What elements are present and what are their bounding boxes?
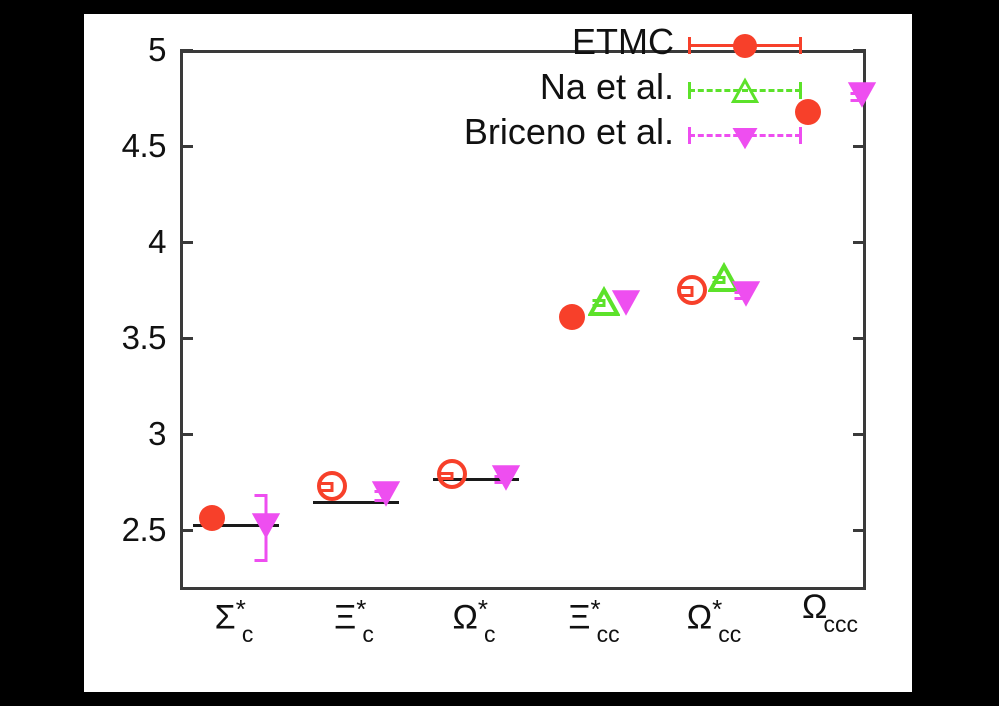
legend-entry-na: Na et al. <box>384 67 804 112</box>
legend-key-etmc <box>686 34 804 58</box>
y-tick-mark-right <box>853 241 866 244</box>
y-axis-tick-label: 5 <box>84 33 166 66</box>
data-point-filled-triangle-down <box>249 509 283 543</box>
x-axis-tick-label: Ξ*c <box>334 590 378 645</box>
chart-legend: ETMC Na et al. Briceno et al. <box>384 22 804 157</box>
y-tick-mark-right <box>853 529 866 532</box>
data-point-filled-circle <box>559 304 585 330</box>
y-tick-mark-right <box>853 49 866 52</box>
error-bar-cap <box>255 559 268 562</box>
y-tick-mark <box>180 49 193 52</box>
legend-label-briceno: Briceno et al. <box>464 112 674 152</box>
y-tick-mark-right <box>853 337 866 340</box>
legend-marker-filled-triangle-down <box>730 123 760 153</box>
data-point-filled-triangle-down <box>729 277 763 311</box>
y-axis-tick-label: 4 <box>84 225 166 258</box>
data-point-filled-triangle-down <box>369 477 403 511</box>
data-point-open-circle <box>317 471 347 501</box>
figure-canvas: 54.543.532.5Σ*cΞ*cΩ*cΞ*ccΩ*ccΩccc ETMC N… <box>84 14 912 692</box>
x-axis-tick-label: Ξ*cc <box>568 590 623 645</box>
error-bar-cap <box>255 494 268 497</box>
y-tick-mark <box>180 241 193 244</box>
y-tick-mark-right <box>853 145 866 148</box>
y-axis-tick-label: 3.5 <box>84 321 166 354</box>
y-tick-mark <box>180 433 193 436</box>
x-axis-tick-label: Ω*cc <box>687 590 746 645</box>
y-tick-mark <box>180 529 193 532</box>
y-axis-tick-label: 2.5 <box>84 513 166 546</box>
data-point-filled-circle <box>199 505 225 531</box>
data-point-filled-triangle-down <box>845 78 879 112</box>
data-point-open-circle <box>677 275 707 305</box>
legend-key-cap <box>688 37 691 54</box>
x-axis-tick-label: Ωccc <box>802 590 862 635</box>
y-axis-tick-label: 4.5 <box>84 129 166 162</box>
figure-root: 54.543.532.5Σ*cΞ*cΩ*cΞ*ccΩ*ccΩccc ETMC N… <box>0 0 999 706</box>
y-tick-mark-right <box>853 433 866 436</box>
y-tick-mark <box>180 145 193 148</box>
legend-key-cap <box>799 127 802 144</box>
legend-entry-briceno: Briceno et al. <box>384 112 804 157</box>
legend-marker-filled-circle <box>733 34 757 58</box>
legend-label-etmc: ETMC <box>572 22 674 62</box>
x-axis-tick-label: Ω*c <box>452 590 499 645</box>
data-point-filled-triangle-down <box>489 461 523 495</box>
x-axis-tick-label: Σ*c <box>215 590 258 645</box>
y-tick-mark <box>180 337 193 340</box>
legend-label-na: Na et al. <box>540 67 674 107</box>
y-axis-tick-label: 3 <box>84 417 166 450</box>
legend-key-na <box>686 79 804 103</box>
legend-key-briceno <box>686 124 804 148</box>
legend-key-cap <box>799 82 802 99</box>
legend-key-cap <box>688 82 691 99</box>
legend-entry-etmc: ETMC <box>384 22 804 67</box>
legend-marker-open-triangle-up <box>731 77 759 105</box>
data-point-open-circle <box>437 459 467 489</box>
data-point-filled-triangle-down <box>609 286 643 320</box>
legend-key-cap <box>799 37 802 54</box>
legend-key-cap <box>688 127 691 144</box>
